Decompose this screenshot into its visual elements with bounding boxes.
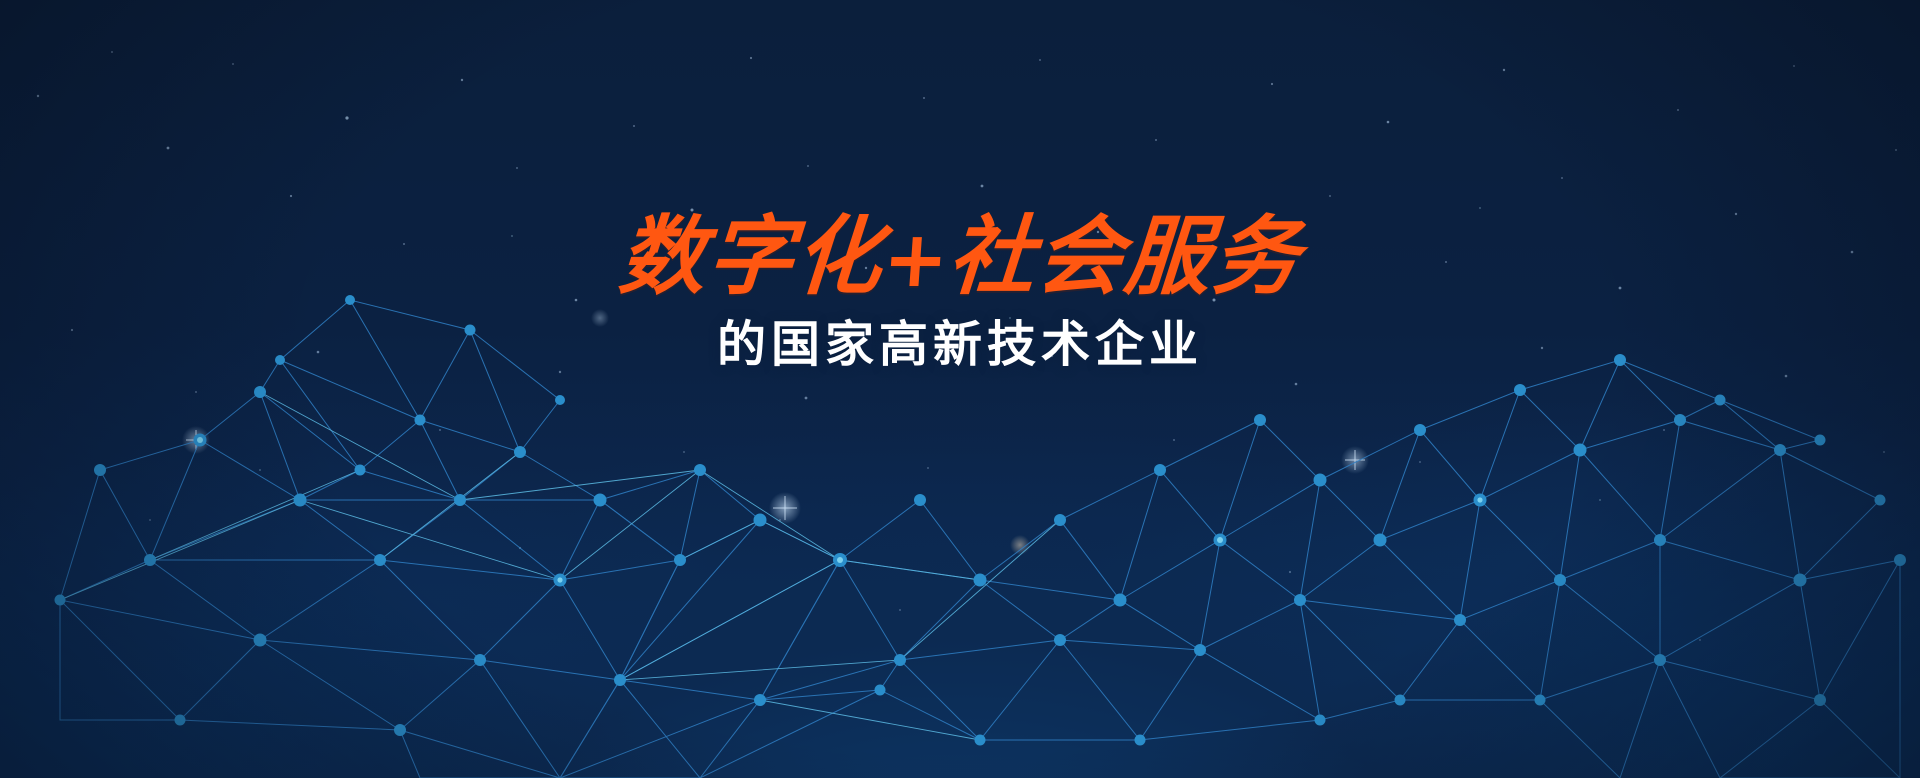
headline-plus: + bbox=[880, 215, 952, 305]
headline-right: 社会服务 bbox=[945, 207, 1304, 307]
banner-text-block: 数字化+社会服务 的国家高新技术企业 bbox=[0, 214, 1920, 372]
page-title: 数字化+社会服务 bbox=[0, 214, 1920, 300]
headline-left: 数字化 bbox=[616, 207, 887, 307]
hero-banner: 数字化+社会服务 的国家高新技术企业 bbox=[0, 0, 1920, 778]
page-subtitle: 的国家高新技术企业 bbox=[0, 318, 1920, 372]
network-mesh-layer bbox=[0, 0, 1920, 778]
